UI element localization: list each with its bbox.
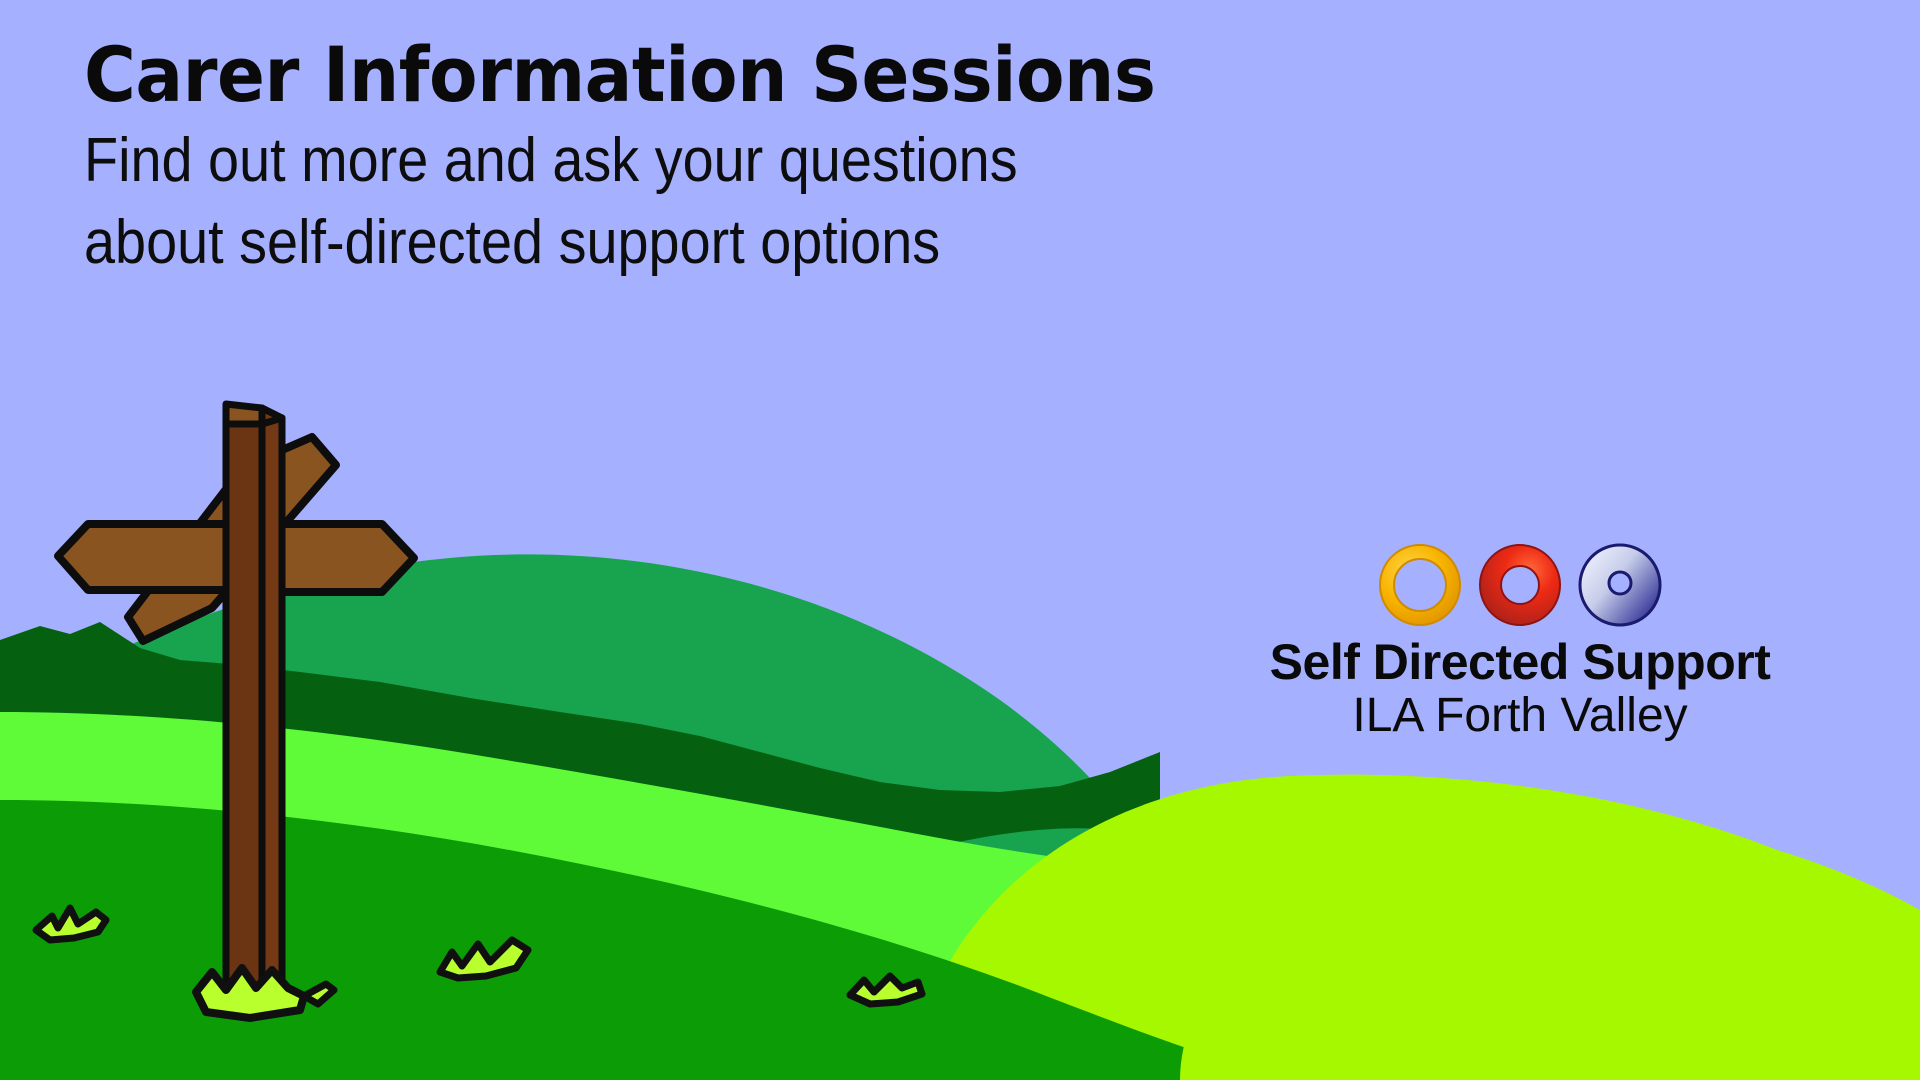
subtitle-line-1: Find out more and ask your questions (84, 120, 1121, 202)
headline-block: Carer Information Sessions Find out more… (84, 36, 1236, 284)
page-title: Carer Information Sessions (84, 36, 1156, 114)
subtitle-line-2: about self-directed support options (84, 202, 1121, 284)
sds-logo: Self Directed Support ILA Forth Valley (1225, 540, 1815, 743)
signpost-post-side-overlay (262, 418, 282, 994)
logo-name: Self Directed Support (1225, 636, 1815, 689)
logo-subtitle: ILA Forth Valley (1225, 689, 1815, 743)
yellow-ring-icon (1372, 540, 1468, 630)
logo-rings-group (1225, 540, 1815, 630)
blue-ring-icon (1572, 540, 1668, 630)
signpost-post-overlay (226, 424, 262, 994)
poster-canvas: Carer Information Sessions Find out more… (0, 0, 1920, 1080)
red-ring-icon (1472, 540, 1568, 630)
